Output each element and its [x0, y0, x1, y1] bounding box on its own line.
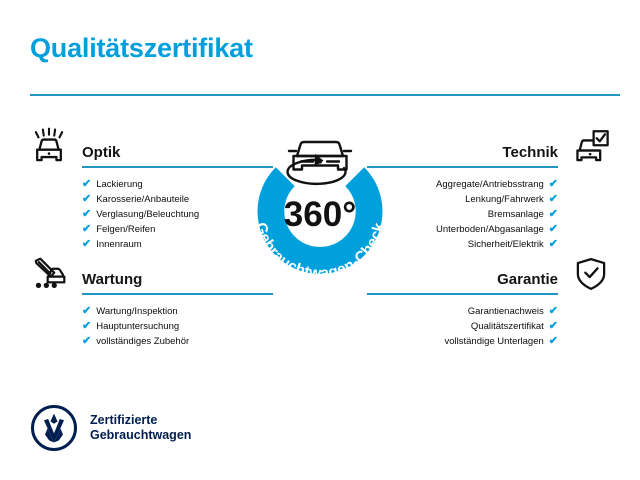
car-rotate-icon [288, 142, 351, 184]
list-item-label: Aggregate/Antriebsstrang [436, 177, 544, 192]
checklist-garantie: Garantienachweis✔ Qualitätszertifikat✔ v… [367, 304, 612, 349]
list-item-label: Karosserie/Anbauteile [96, 192, 189, 207]
list-item: ✔Hauptuntersuchung [82, 319, 273, 334]
header-divider [30, 94, 620, 96]
list-item-label: Hauptuntersuchung [96, 319, 179, 334]
list-item-label: Felgen/Reifen [96, 222, 155, 237]
check-icon: ✔ [82, 179, 91, 190]
list-item-label: Lenkung/Fahrwerk [465, 192, 544, 207]
list-item-label: Verglasung/Beleuchtung [96, 207, 199, 222]
badge-360-check: 360° Gebrauchtwagen-Check [229, 118, 411, 308]
car-shine-icon [28, 126, 70, 168]
list-item: vollständige Unterlagen✔ [367, 334, 558, 349]
shield-check-icon [570, 253, 612, 295]
page-title: Qualitätszertifikat [30, 33, 253, 64]
check-icon: ✔ [549, 321, 558, 332]
list-item-label: Bremsanlage [488, 207, 544, 222]
check-icon: ✔ [82, 321, 91, 332]
list-item-label: Garantienachweis [468, 304, 544, 319]
footer-line-2: Gebrauchtwagen [90, 428, 191, 443]
list-item-label: Qualitätszertifikat [471, 319, 544, 334]
vw-logo [30, 404, 78, 452]
check-icon: ✔ [82, 336, 91, 347]
check-icon: ✔ [549, 209, 558, 220]
check-icon: ✔ [549, 194, 558, 205]
footer-line-1: Zertifizierte [90, 413, 191, 428]
check-icon: ✔ [549, 179, 558, 190]
check-icon: ✔ [549, 306, 558, 317]
list-item-label: Lackierung [96, 177, 142, 192]
check-icon: ✔ [82, 194, 91, 205]
footer-text: Zertifizierte Gebrauchtwagen [90, 413, 191, 443]
list-item: Qualitätszertifikat✔ [367, 319, 558, 334]
wrench-car-icon [28, 253, 70, 295]
check-icon: ✔ [82, 224, 91, 235]
list-item-label: vollständiges Zubehör [96, 334, 189, 349]
badge-center-label: 360° [284, 195, 356, 234]
list-item: ✔vollständiges Zubehör [82, 334, 273, 349]
list-item-label: Sicherheit/Elektrik [468, 237, 544, 252]
car-checkbox-icon [570, 126, 612, 168]
list-item-label: Unterboden/Abgasanlage [436, 222, 544, 237]
check-icon: ✔ [82, 209, 91, 220]
checklist-wartung: ✔Wartung/Inspektion ✔Hauptuntersuchung ✔… [28, 304, 273, 349]
list-item-label: Innenraum [96, 237, 141, 252]
list-item-label: Wartung/Inspektion [96, 304, 178, 319]
check-icon: ✔ [82, 239, 91, 250]
check-icon: ✔ [549, 239, 558, 250]
list-item-label: vollständige Unterlagen [444, 334, 543, 349]
check-icon: ✔ [549, 224, 558, 235]
check-icon: ✔ [549, 336, 558, 347]
footer-brand: Zertifizierte Gebrauchtwagen [30, 404, 191, 452]
check-icon: ✔ [82, 306, 91, 317]
